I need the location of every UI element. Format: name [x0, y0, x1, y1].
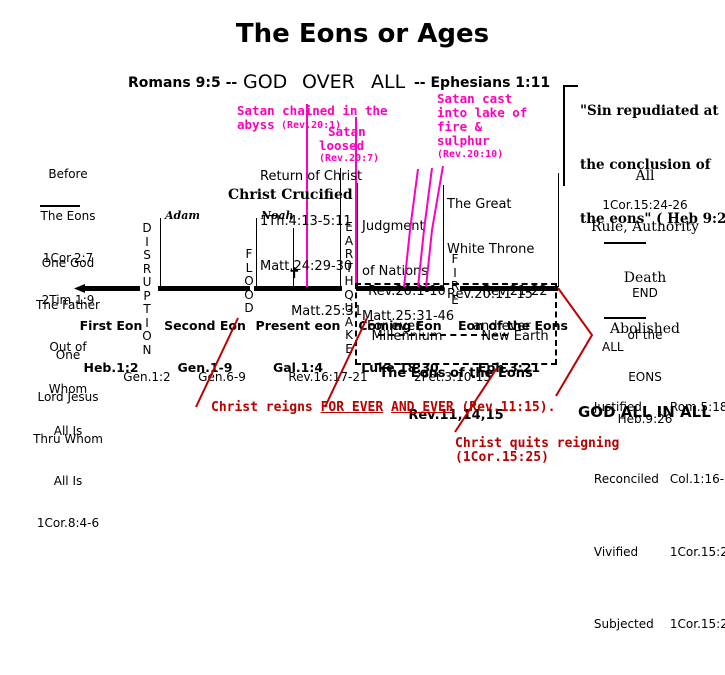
pink-leader-satan-cast-a — [418, 168, 432, 287]
all-row-3-term: Subjected — [594, 617, 670, 632]
all-row-3-ref: 1Cor.15:27,28 — [670, 617, 725, 631]
all-row-2: Vivified1Cor.15:22-26 — [571, 530, 725, 574]
pink-leader-lines — [0, 0, 725, 519]
all-row-2-ref: 1Cor.15:22-26 — [670, 545, 725, 559]
diagram-canvas: The Eons or Ages Romans 9:5 -- GOD OVER … — [0, 0, 725, 519]
all-row-2-term: Vivified — [594, 545, 670, 560]
pink-leader-satan-loosed — [404, 169, 418, 287]
pink-leader-satan-cast-b — [426, 166, 443, 287]
all-row-3: Subjected1Cor.15:27,28 — [571, 603, 725, 647]
